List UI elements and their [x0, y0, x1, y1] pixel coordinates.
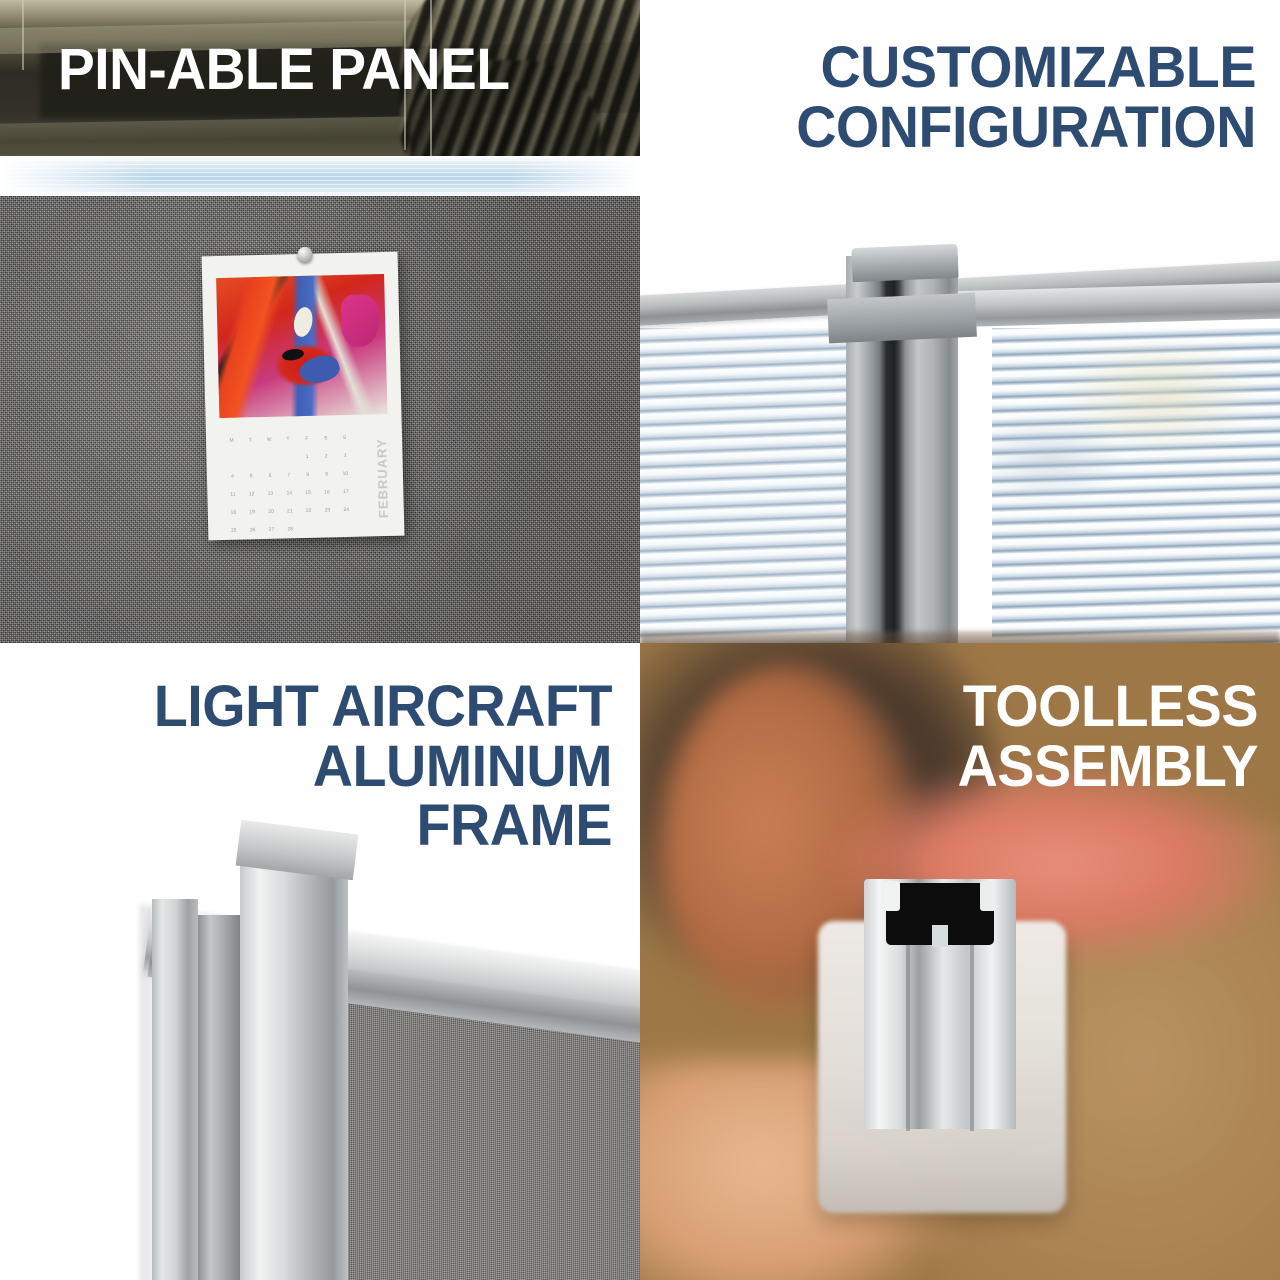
pinned-calendar: M T W T F S S 1 2 3: [202, 252, 405, 541]
weekday-header: F: [299, 436, 314, 442]
frame-post-front: [240, 833, 348, 1280]
calendar-artwork: [216, 274, 387, 418]
extrusion-lip-right: [980, 881, 996, 911]
weekday-header: S: [318, 435, 333, 441]
calendar-day: 18: [226, 510, 241, 516]
headline-light-aircraft-aluminum-frame: LIGHT AIRCRAFT ALUMINUM FRAME: [36, 677, 612, 856]
push-pin-icon: [297, 247, 312, 262]
calendar-day: 13: [263, 491, 278, 497]
calendar-week-row: 25 26 27 28: [226, 519, 354, 540]
aluminum-post-photo: [640, 232, 1280, 643]
reflection-fade-right: [510, 156, 640, 198]
calendar-day: 9: [319, 471, 334, 477]
post-joint-block: [827, 293, 977, 344]
calendar-day: 25: [226, 528, 241, 534]
frame-post-outer: [152, 899, 198, 1280]
calendar-day: 17: [338, 489, 353, 495]
art-blob-pink: [341, 294, 380, 347]
extrusion-lip-left: [884, 881, 900, 911]
weekday-header: M: [224, 438, 239, 444]
calendar-day: 5: [244, 473, 259, 479]
extrusion-center-notch: [932, 925, 948, 947]
calendar-day: 12: [244, 491, 259, 497]
calendar-day: 24: [339, 507, 354, 513]
weekday-header: T: [280, 436, 295, 442]
calendar-grid: M T W T F S S 1 2 3: [224, 429, 354, 524]
window-sill-shadow: [640, 631, 1280, 643]
quadrant-toolless-assembly: TOOLLESS ASSEMBLY: [640, 643, 1280, 1280]
calendar-day: 11: [225, 492, 240, 498]
calendar-day: 19: [245, 509, 260, 515]
panel-top-light-reflection: [0, 156, 640, 198]
post-top-cap: [851, 244, 958, 282]
headline-customizable-configuration: CUSTOMIZABLE CONFIGURATION: [680, 38, 1256, 157]
extrusion-rib: [970, 945, 974, 1131]
quadrant-light-aircraft-aluminum-frame: LIGHT AIRCRAFT ALUMINUM FRAME: [0, 643, 640, 1280]
feature-grid: M T W T F S S 1 2 3: [0, 0, 1280, 1280]
calendar-day: 14: [282, 490, 297, 496]
calendar-day: 22: [301, 508, 316, 514]
calendar-month-label: FEBRUARY: [374, 428, 398, 529]
calendar-day: 3: [337, 453, 352, 459]
ceiling-wire: [22, 0, 24, 70]
art-blob-white: [292, 305, 315, 338]
calendar-day: 27: [264, 527, 279, 533]
calendar-day: 7: [281, 472, 296, 478]
calendar-day: 15: [301, 490, 316, 496]
calendar-day: 21: [282, 508, 297, 514]
extrusion-rib: [906, 945, 910, 1131]
quadrant-pin-able-panel: M T W T F S S 1 2 3: [0, 0, 640, 643]
calendar-day: 2: [319, 453, 334, 459]
art-blob-blue: [296, 351, 342, 389]
calendar-day: 20: [263, 509, 278, 515]
headline-pin-able-panel: PIN-ABLE PANEL: [58, 40, 600, 100]
calendar-day: 16: [319, 489, 334, 495]
frame-post-middle: [198, 915, 240, 1280]
calendar-day: 1: [300, 454, 315, 460]
calendar-day: 26: [245, 527, 260, 533]
weekday-header: W: [262, 437, 277, 443]
art-blob-black: [281, 347, 305, 361]
calendar-day: 8: [300, 472, 315, 478]
calendar-day: 23: [320, 507, 335, 513]
calendar-day: 28: [283, 526, 298, 532]
weekday-header: S: [337, 435, 352, 441]
quadrant-customizable-configuration: CUSTOMIZABLE CONFIGURATION: [640, 0, 1280, 643]
calendar-day: 10: [338, 471, 353, 477]
weekday-header: T: [243, 437, 258, 443]
calendar-day: 4: [225, 474, 240, 480]
reflection-fade-left: [0, 156, 150, 198]
headline-toolless-assembly: TOOLLESS ASSEMBLY: [682, 677, 1258, 796]
calendar-day: 6: [263, 473, 278, 479]
